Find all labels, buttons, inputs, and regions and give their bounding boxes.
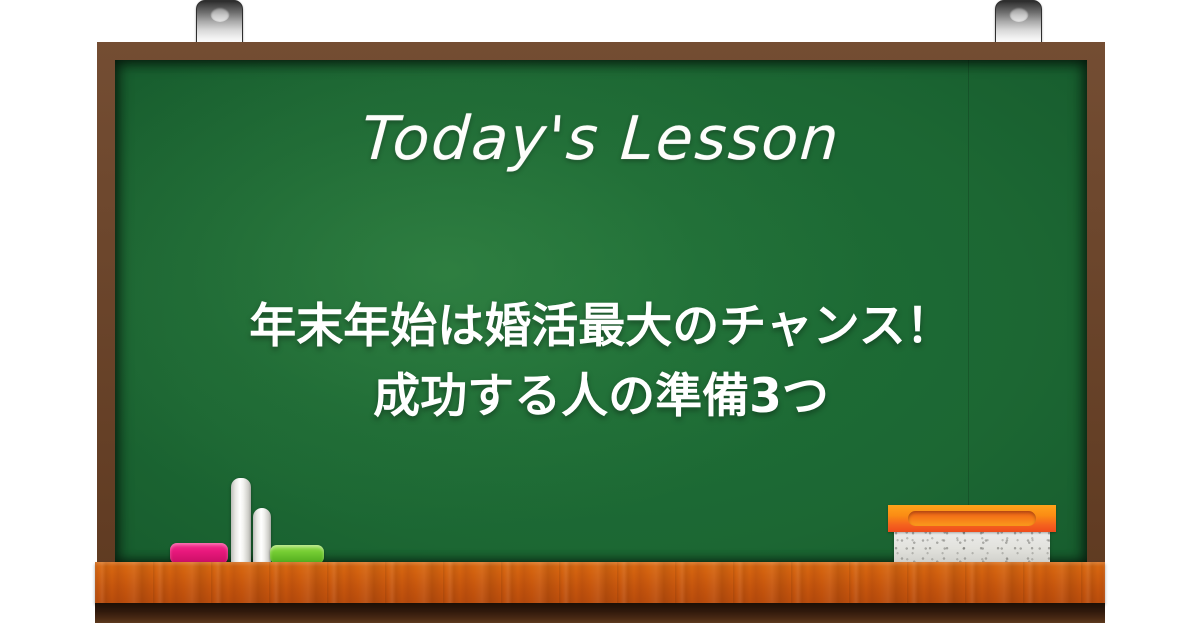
chalkboard-surface: Today's Lesson 年末年始は婚活最大のチャンス！ 成功する人の準備3… (115, 60, 1087, 563)
headline-line-1: 年末年始は婚活最大のチャンス！ (155, 292, 1047, 362)
white-chalk-tall (231, 478, 251, 564)
pink-chalk (170, 543, 228, 564)
chalkboard-scene: Today's Lesson 年末年始は婚活最大のチャンス！ 成功する人の準備3… (0, 0, 1200, 630)
headline-text: 年末年始は婚活最大のチャンス！ 成功する人の準備3つ (155, 292, 1047, 431)
headline-line-2: 成功する人の準備3つ (155, 362, 1047, 432)
lesson-title: Today's Lesson (115, 104, 1087, 174)
tray-shadow (95, 603, 1105, 623)
chalk-tray (95, 562, 1105, 603)
wall-mount-bracket-right (995, 0, 1042, 46)
eraser-handle (888, 505, 1056, 532)
white-chalk-short (253, 508, 271, 564)
wall-mount-bracket-left (196, 0, 243, 46)
bracket-hole-icon (210, 7, 229, 22)
eraser-groove (908, 511, 1036, 526)
bracket-hole-icon (1009, 7, 1028, 22)
blackboard-eraser (888, 505, 1056, 564)
eraser-felt (894, 529, 1050, 564)
